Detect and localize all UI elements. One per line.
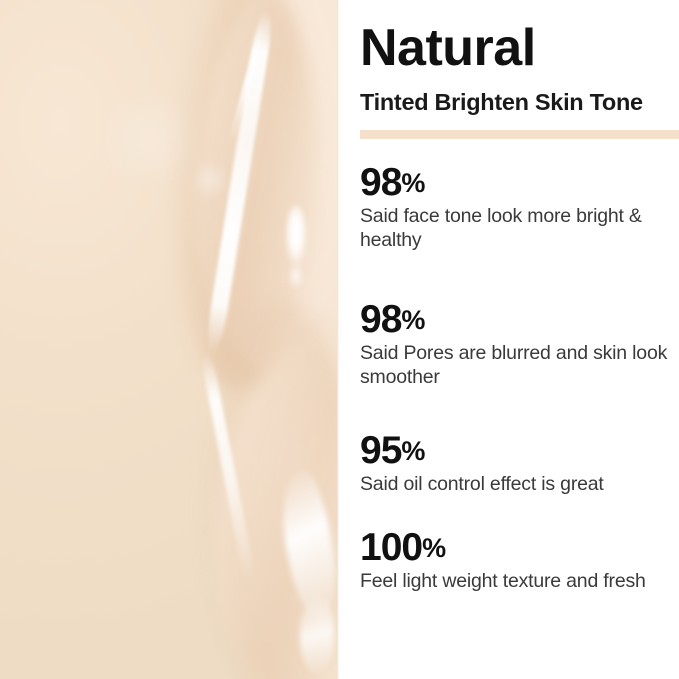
product-claims-poster: Natural Tinted Brighten Skin Tone 98% Sa…	[0, 0, 679, 679]
claim-description: Said face tone look more bright & health…	[360, 205, 679, 253]
percent-symbol: %	[401, 168, 425, 198]
claim-percentage: 98%	[360, 163, 679, 203]
claim-percentage: 98%	[360, 300, 679, 340]
claims-text-panel: Natural Tinted Brighten Skin Tone 98% Sa…	[339, 0, 679, 679]
claim-item: 100% Feel light weight texture and fresh	[360, 528, 646, 594]
claim-item: 95% Said oil control effect is great	[360, 431, 604, 497]
claim-item: 98% Said face tone look more bright & he…	[360, 163, 679, 252]
foundation-texture-image	[0, 0, 339, 679]
claim-item: 98% Said Pores are blurred and skin look…	[360, 300, 679, 389]
claim-number: 98	[360, 161, 401, 204]
claim-description: Said Pores are blurred and skin look smo…	[360, 342, 679, 390]
percent-symbol: %	[401, 305, 425, 335]
claim-number: 95	[360, 429, 401, 472]
page-subtitle: Tinted Brighten Skin Tone	[360, 90, 643, 116]
accent-divider-bar	[360, 130, 679, 139]
soft-sheen-center	[190, 160, 230, 200]
claim-percentage: 100%	[360, 528, 646, 568]
claim-number: 100	[360, 526, 422, 569]
percent-symbol: %	[401, 436, 425, 466]
claim-description: Feel light weight texture and fresh	[360, 570, 646, 594]
specular-oval-tail	[288, 262, 304, 290]
claim-percentage: 95%	[360, 431, 604, 471]
specular-crescent-bottom	[300, 595, 334, 675]
page-title: Natural	[360, 22, 536, 74]
claim-description: Said oil control effect is great	[360, 473, 604, 497]
percent-symbol: %	[422, 533, 446, 563]
claim-number: 98	[360, 298, 401, 341]
